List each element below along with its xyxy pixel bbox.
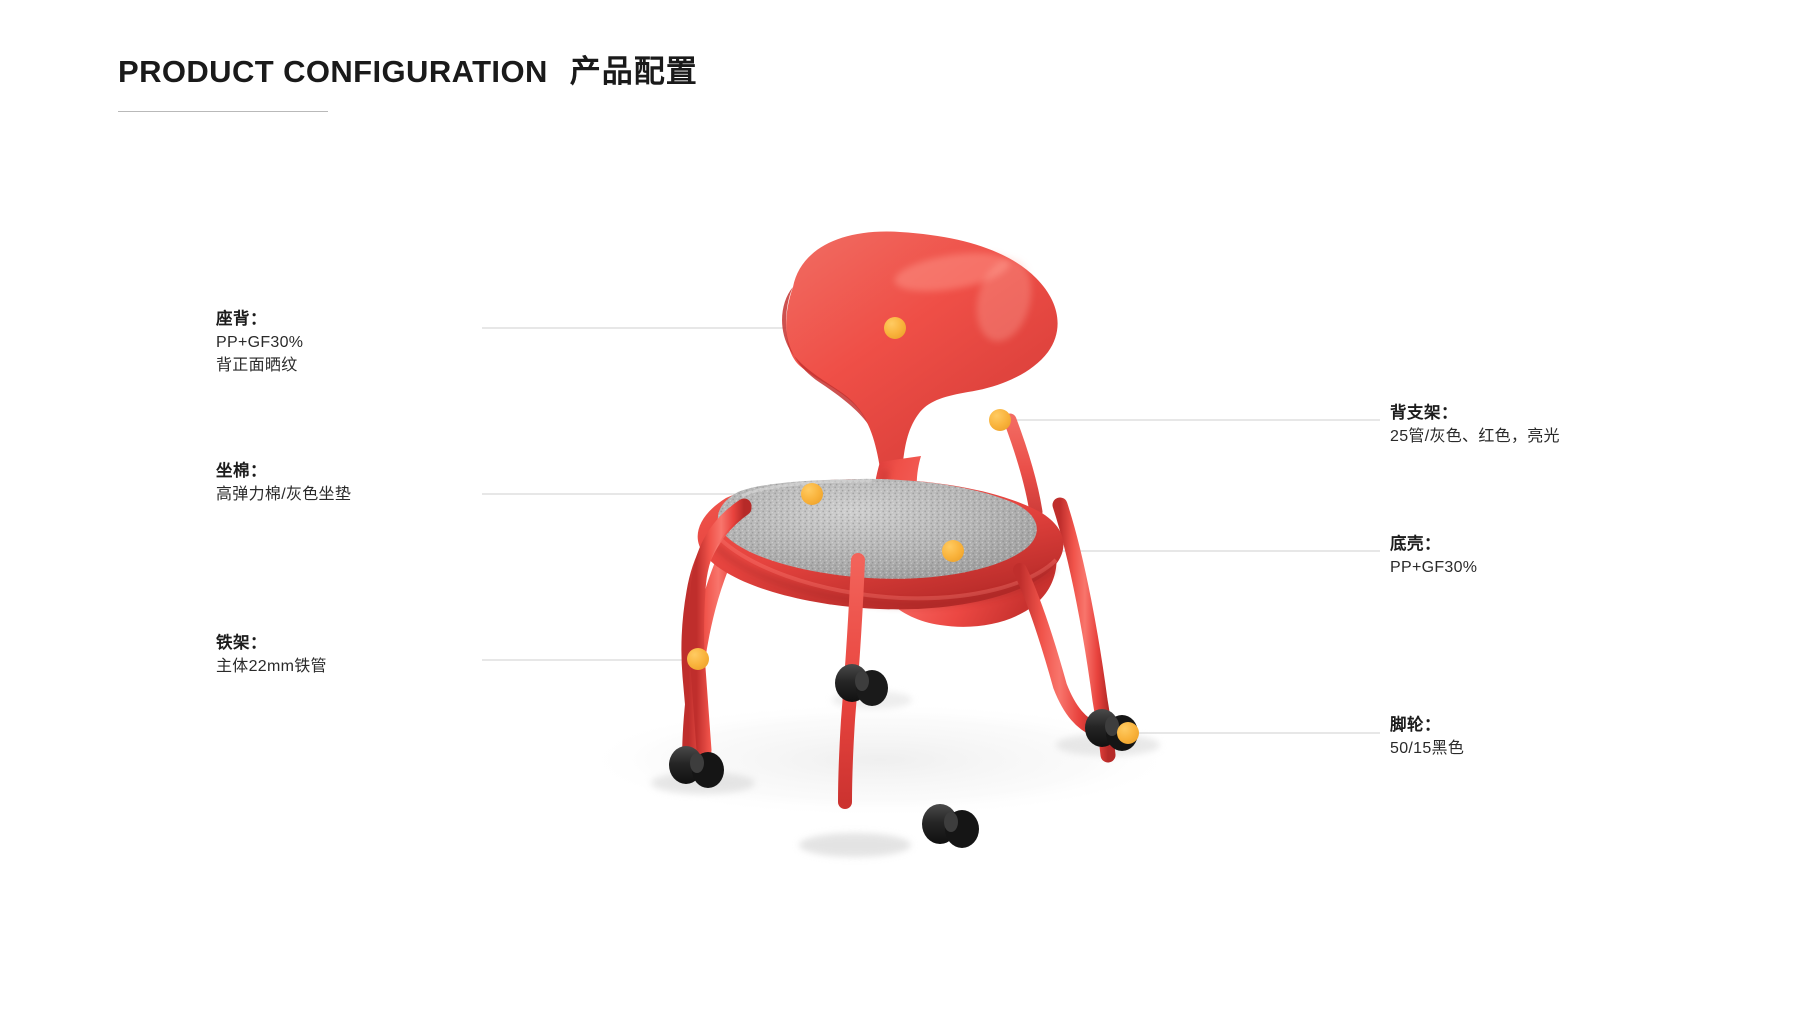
callout-seat-back-line-1: PP+GF30% <box>216 332 303 355</box>
marker-dot-seat-back <box>884 317 906 339</box>
callout-bottom-shell: 底壳： PP+GF30% <box>1390 533 1477 580</box>
callout-steel-frame-title: 铁架： <box>216 632 327 655</box>
callout-seat-back: 座背： PP+GF30% 背正面晒纹 <box>216 308 303 378</box>
callout-steel-frame: 铁架： 主体22mm铁管 <box>216 632 327 679</box>
callout-caster-title: 脚轮： <box>1390 714 1464 737</box>
callout-seat-back-title: 座背： <box>216 308 303 331</box>
back-bracket <box>1010 420 1036 512</box>
callout-caster: 脚轮： 50/15黑色 <box>1390 714 1464 761</box>
callout-back-bracket: 背支架： 25管/灰色、红色，亮光 <box>1390 402 1560 449</box>
callout-bottom-shell-line-1: PP+GF30% <box>1390 557 1477 580</box>
callout-caster-line-1: 50/15黑色 <box>1390 738 1464 761</box>
callout-back-bracket-line-1: 25管/灰色、红色，亮光 <box>1390 426 1560 449</box>
callout-seat-cushion-line-1: 高弹力棉/灰色坐垫 <box>216 484 351 507</box>
callout-seat-cushion: 坐棉： 高弹力棉/灰色坐垫 <box>216 460 351 507</box>
callout-steel-frame-line-1: 主体22mm铁管 <box>216 656 327 679</box>
callout-back-bracket-title: 背支架： <box>1390 402 1560 425</box>
marker-dot-back-bracket <box>989 409 1011 431</box>
marker-dot-bottom-shell <box>942 540 964 562</box>
marker-dot-seat-cushion <box>801 483 823 505</box>
product-configuration-page: PRODUCT CONFIGURATION 产品配置 <box>0 0 1800 1013</box>
marker-dot-steel-frame <box>687 648 709 670</box>
callout-bottom-shell-title: 底壳： <box>1390 533 1477 556</box>
callout-seat-back-line-2: 背正面晒纹 <box>216 355 303 378</box>
marker-dot-caster <box>1117 722 1139 744</box>
callout-seat-cushion-title: 坐棉： <box>216 460 351 483</box>
